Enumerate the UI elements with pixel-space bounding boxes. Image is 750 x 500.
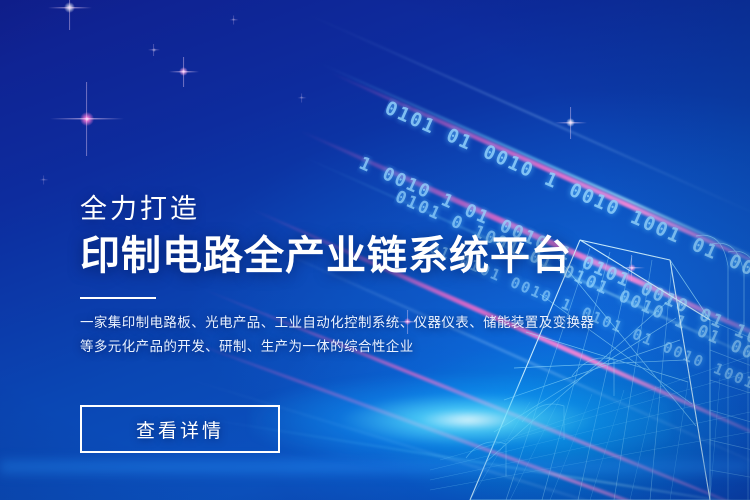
divider-rule [80, 297, 156, 299]
hero-content: 全力打造 印制电路全产业链系统平台 一家集印制电路板、光电产品、工业自动化控制系… [80, 196, 600, 359]
eyebrow-text: 全力打造 [80, 196, 600, 223]
subtitle-line-1: 一家集印制电路板、光电产品、工业自动化控制系统、仪器仪表、储能装置及变换器 [80, 311, 600, 335]
view-details-button[interactable]: 查看详情 [80, 405, 280, 453]
page-title: 印制电路全产业链系统平台 [80, 235, 600, 277]
subtitle-text: 一家集印制电路板、光电产品、工业自动化控制系统、仪器仪表、储能装置及变换器 等多… [80, 311, 600, 359]
hero-banner: 0101 01 0010 1 0010 1001 01 0010 01 1001… [0, 0, 750, 500]
subtitle-line-2: 等多元化产品的开发、研制、生产为一体的综合性企业 [80, 335, 600, 359]
